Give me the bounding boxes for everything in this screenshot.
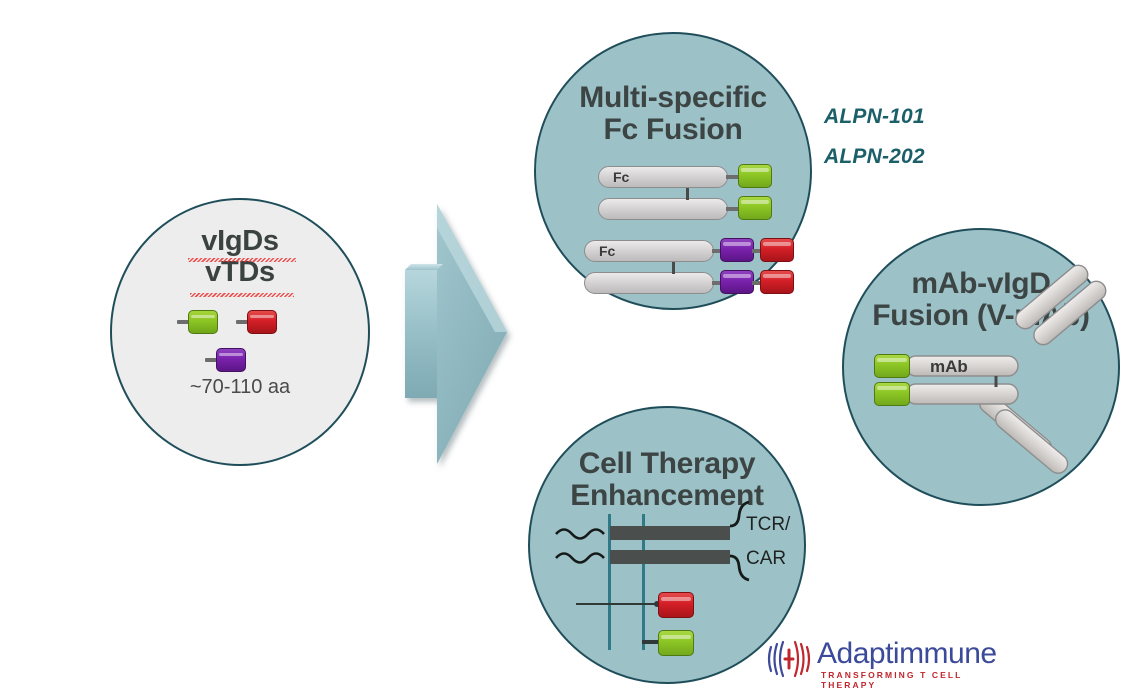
receptor-label-line2: CAR xyxy=(746,548,786,570)
signaling-tail-1 xyxy=(556,530,604,539)
spellcheck-squiggle-1 xyxy=(188,258,296,262)
spellcheck-squiggle-2 xyxy=(190,293,294,297)
process-arrow xyxy=(385,192,515,482)
adaptimmune-logo: Adaptimmune TRANSFORMING T CELL THERAPY xyxy=(765,636,970,686)
fc-heavy-chain-top-1: Fc xyxy=(598,166,728,188)
fc-heavy-chain-bottom-1 xyxy=(598,198,728,220)
signaling-tail-2 xyxy=(556,554,604,563)
purple-domain-pill xyxy=(216,348,246,372)
logo-tagline: TRANSFORMING T CELL THERAPY xyxy=(821,670,970,690)
node-fc-fusion: Multi-specific Fc Fusion Fc Fc xyxy=(534,32,812,310)
source-size-label: ~70-110 aa xyxy=(112,376,368,399)
fc-heavy-chain-top-2: Fc xyxy=(584,240,714,262)
green-domain-pill xyxy=(188,310,218,334)
fc-label-1: Fc xyxy=(613,169,629,185)
source-circle-vigd-vtd: vIgDsvTDs ~70-110 aa xyxy=(110,198,370,466)
fc-green-domain-bottom-1 xyxy=(738,196,772,220)
node-mab-fusion: mAb-vIgD Fusion (V-mAb) mAb xyxy=(842,228,1120,506)
logo-wordmark: Adaptimmune xyxy=(817,637,997,671)
adaptimmune-mark-icon xyxy=(765,638,813,680)
red-domain-pill xyxy=(247,310,277,334)
annotation-alpn-101: ALPN-101 xyxy=(824,105,925,129)
fc-green-domain-top-1 xyxy=(738,164,772,188)
cell-red-domain xyxy=(658,592,694,618)
source-title-line1: vIgDs xyxy=(201,225,278,257)
fc-red-domain-top xyxy=(760,238,794,262)
fc-heavy-chain-bottom-2 xyxy=(584,272,714,294)
receptor-label-line1: TCR/ xyxy=(746,514,790,536)
fc-red-domain-bottom xyxy=(760,270,794,294)
annotation-alpn-202: ALPN-202 xyxy=(824,145,925,169)
mab-green-domain-top xyxy=(874,354,910,378)
cell-green-domain xyxy=(658,630,694,656)
diagram-canvas: vIgDsvTDs ~70-110 aa xyxy=(0,0,1122,694)
mab-green-domain-bottom xyxy=(874,382,910,406)
fc-purple-domain-top xyxy=(720,238,754,262)
fc-hinge-2 xyxy=(672,262,675,274)
fc-label-2: Fc xyxy=(599,243,615,259)
fc-fusion-title: Multi-specific Fc Fusion xyxy=(536,82,810,147)
mab-label: mAb xyxy=(930,357,968,377)
fc-purple-domain-bottom xyxy=(720,270,754,294)
fc-hinge-1 xyxy=(686,188,689,200)
